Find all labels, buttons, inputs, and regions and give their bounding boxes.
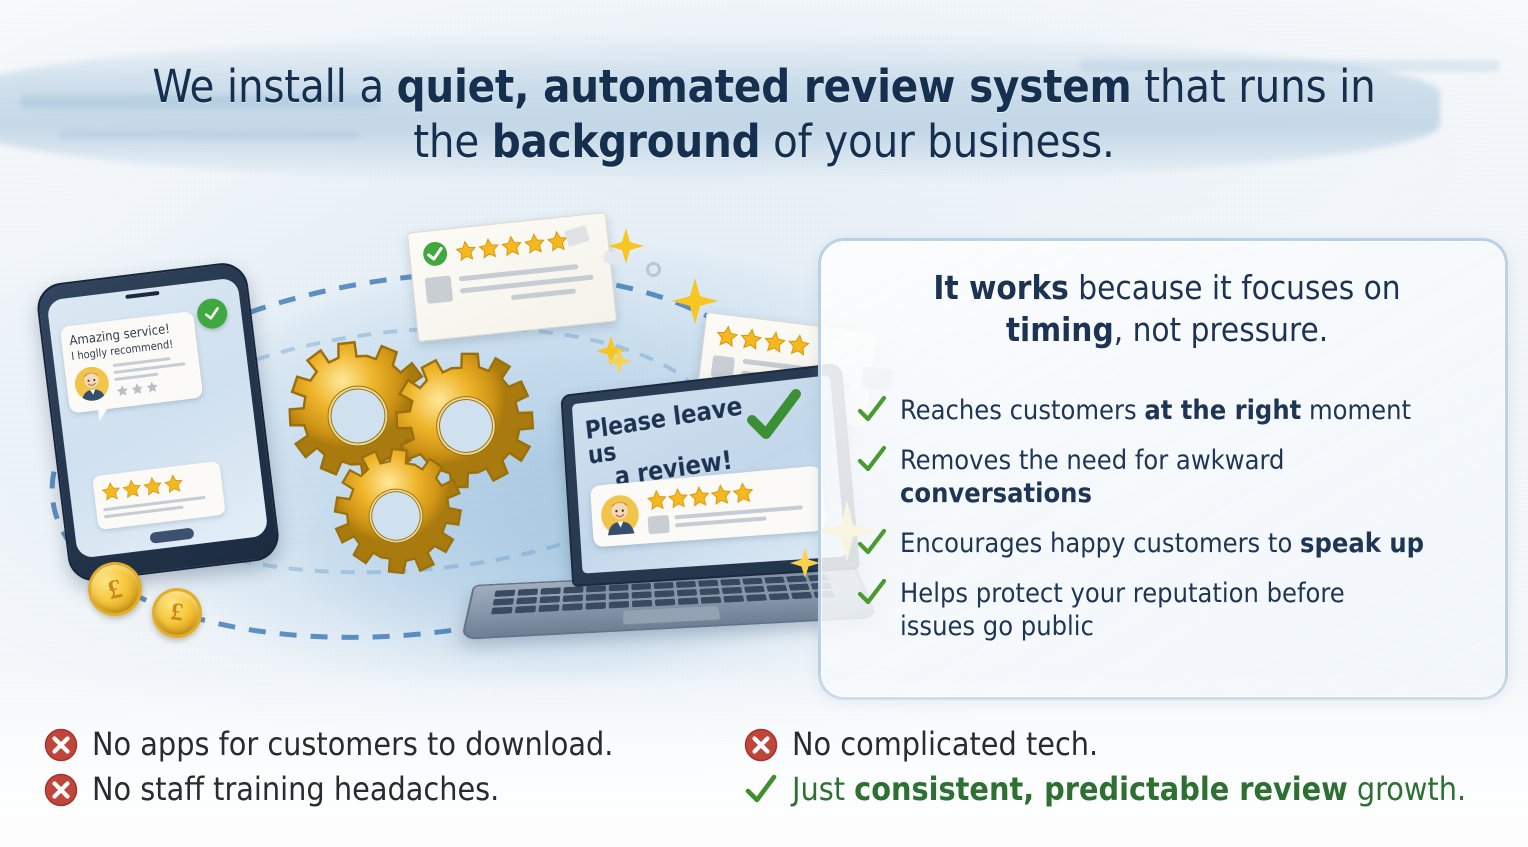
- note-card-top-thumb: [425, 275, 454, 304]
- footer-text-3: No complicated tech.: [792, 726, 1098, 764]
- sparkle-icon-6: [790, 548, 820, 578]
- phone-review-placeholder-lines: [113, 355, 195, 398]
- phone-home-indicator: [149, 528, 194, 544]
- benefit-item-4: Helps protect your reputation before iss…: [857, 576, 1497, 644]
- benefit-text-4: Helps protect your reputation before iss…: [900, 576, 1400, 644]
- footer-item-2: No staff training headaches.: [44, 771, 744, 809]
- phone-review-meta: [73, 355, 194, 403]
- headline-part-4: the: [413, 115, 492, 168]
- footer-4-post: growth.: [1348, 770, 1466, 808]
- red-cross-circle-icon: [744, 728, 778, 762]
- red-cross-circle-icon: [44, 773, 78, 807]
- footer-4-bold: consistent, predictable review: [854, 770, 1348, 808]
- benefit-item-1: Reaches customers at the right moment: [857, 393, 1497, 428]
- sparkle-icon-4: [606, 348, 632, 374]
- coin-symbol-2: £: [169, 598, 185, 627]
- benefits-list: Reaches customers at the right moment Re…: [857, 393, 1497, 659]
- confetti-circle-1: [646, 262, 661, 277]
- benefit-text-3: Encourages happy customers to speak up: [900, 526, 1424, 561]
- footer-claims: No apps for customers to download. No st…: [0, 718, 1528, 847]
- benefit-text-2: Removes the need for awkward conversatio…: [900, 443, 1300, 511]
- panel-heading-bold-1: It works: [933, 268, 1068, 307]
- benefit-3-pre: Encourages happy customers to: [900, 528, 1300, 559]
- avatar: [600, 493, 640, 535]
- panel-heading-text-1: because it focuses on: [1069, 268, 1401, 307]
- laptop-card-thumb: [648, 515, 670, 534]
- footer-text-1: No apps for customers to download.: [92, 726, 613, 764]
- infographic-poster: We install a quiet, automated review sys…: [0, 0, 1528, 847]
- benefit-1-pre: Reaches customers: [900, 395, 1144, 426]
- headline-part-2: quiet, automated review system: [397, 60, 1132, 113]
- footer-text-2: No staff training headaches.: [92, 771, 499, 809]
- green-check-icon: [744, 773, 778, 807]
- green-check-icon: [857, 395, 887, 425]
- laptop-green-check-icon: [742, 386, 804, 448]
- green-check-circle-icon: [421, 240, 450, 269]
- note-card-top-star-row: [454, 229, 570, 263]
- avatar: [73, 365, 111, 403]
- headline-part-5: background: [492, 115, 761, 168]
- red-cross-circle-icon: [44, 728, 78, 762]
- headline-part-1: We install a: [152, 60, 396, 113]
- headline-part-6: of your business.: [760, 115, 1114, 168]
- green-check-icon: [857, 528, 887, 558]
- footer-3-pre: No complicated tech.: [792, 725, 1098, 763]
- phone-notch: [125, 291, 159, 299]
- benefit-1-post: moment: [1301, 395, 1411, 426]
- benefit-2-pre: Removes the need for awkward: [900, 445, 1284, 476]
- panel-heading: It works because it focuses on timing, n…: [861, 267, 1473, 351]
- benefit-item-3: Encourages happy customers to speak up: [857, 526, 1497, 561]
- footer-right-column: No complicated tech. Just consistent, pr…: [744, 726, 1484, 816]
- panel-heading-text-2: , not pressure.: [1114, 310, 1328, 349]
- laptop-trackpad: [622, 605, 721, 625]
- laptop-screen: Please leave us a review!: [572, 375, 846, 573]
- benefit-text-1: Reaches customers at the right moment: [900, 393, 1411, 428]
- benefit-1-bold: at the right: [1144, 395, 1301, 426]
- footer-4-pre: Just: [792, 770, 854, 808]
- panel-heading-bold-2: timing: [1006, 310, 1114, 349]
- benefit-3-bold: speak up: [1300, 528, 1424, 559]
- footer-text-4: Just consistent, predictable review grow…: [792, 771, 1466, 809]
- footer-item-3: No complicated tech.: [744, 726, 1484, 764]
- phone-review-bubble: Amazing service! I hoglly recommend!: [60, 311, 204, 414]
- benefit-4-pre: Helps protect your reputation before iss…: [900, 578, 1345, 642]
- sparkle-icon-2: [672, 278, 718, 324]
- phone-illustration: Amazing service! I hoglly recommend!: [35, 260, 282, 584]
- benefit-item-2: Removes the need for awkward conversatio…: [857, 443, 1497, 511]
- verified-badge-icon: [195, 297, 228, 330]
- page-headline: We install a quiet, automated review sys…: [0, 60, 1528, 170]
- green-check-icon: [857, 445, 887, 475]
- footer-left-column: No apps for customers to download. No st…: [44, 726, 744, 816]
- phone-screen: Amazing service! I hoglly recommend!: [46, 277, 268, 558]
- coin-symbol-1: £: [105, 572, 125, 605]
- footer-item-1: No apps for customers to download.: [44, 726, 744, 764]
- headline-part-3: that runs in: [1132, 60, 1376, 113]
- laptop-illustration: Please leave us a review!: [470, 378, 870, 674]
- green-check-icon: [857, 578, 887, 608]
- benefits-panel: It works because it focuses on timing, n…: [818, 238, 1508, 700]
- benefit-2-bold: conversations: [900, 478, 1092, 509]
- phone-rating-card: [92, 461, 226, 530]
- footer-item-4: Just consistent, predictable review grow…: [744, 771, 1484, 809]
